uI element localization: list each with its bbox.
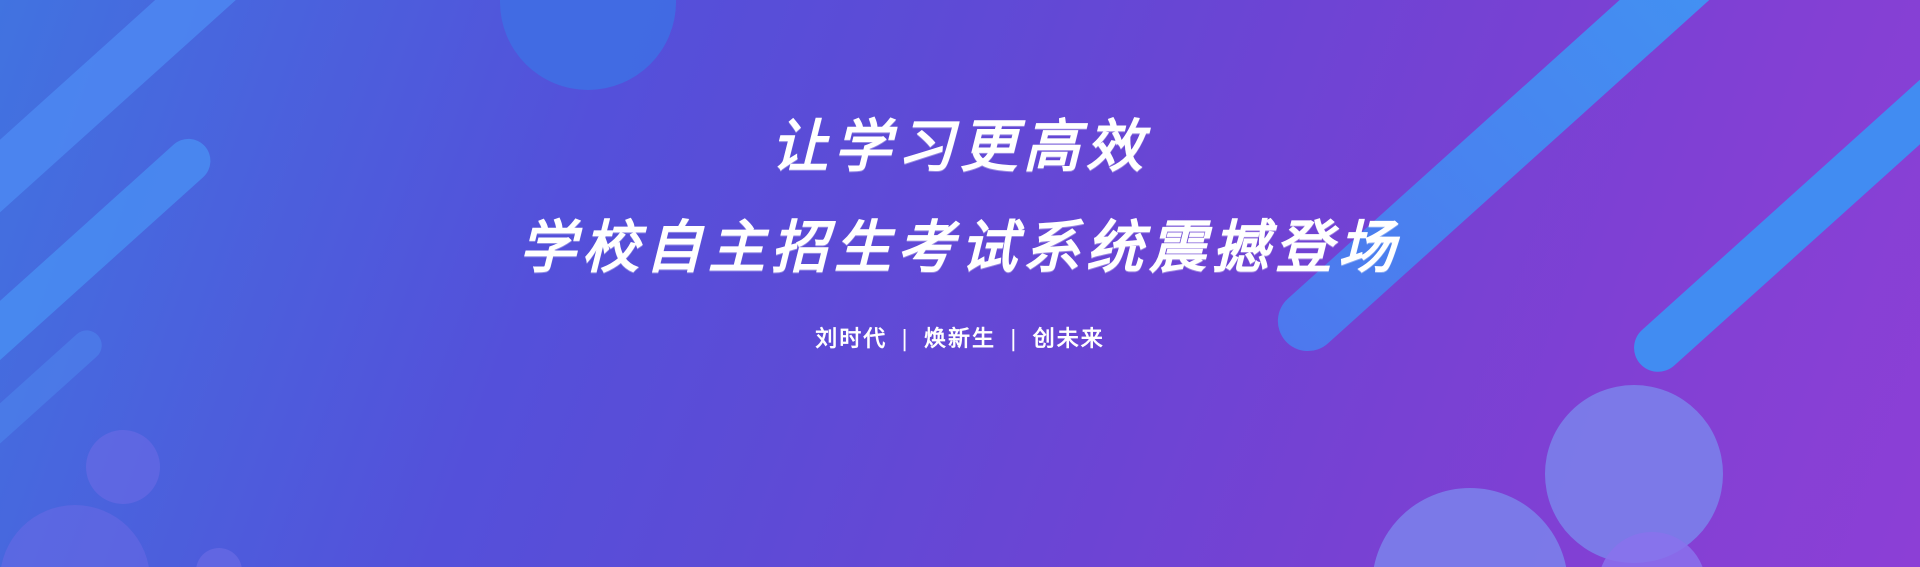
headline-secondary: 学校自主招生考试系统震撼登场: [519, 220, 1401, 277]
promo-banner: 让学习更高效 学校自主招生考试系统震撼登场 刘时代 | 焕新生 | 创未来: [0, 0, 1920, 567]
subtitle-part-3: 创未来: [1033, 327, 1105, 352]
subtitle-part-2: 焕新生: [924, 327, 996, 352]
banner-subtitle: 刘时代 | 焕新生 | 创未来: [815, 329, 1105, 351]
banner-content: 让学习更高效 学校自主招生考试系统震撼登场 刘时代 | 焕新生 | 创未来: [0, 0, 1920, 567]
headline-primary: 让学习更高效: [771, 119, 1149, 176]
subtitle-separator-2: |: [1006, 327, 1023, 352]
subtitle-part-1: 刘时代: [815, 327, 887, 352]
subtitle-separator-1: |: [897, 327, 914, 352]
